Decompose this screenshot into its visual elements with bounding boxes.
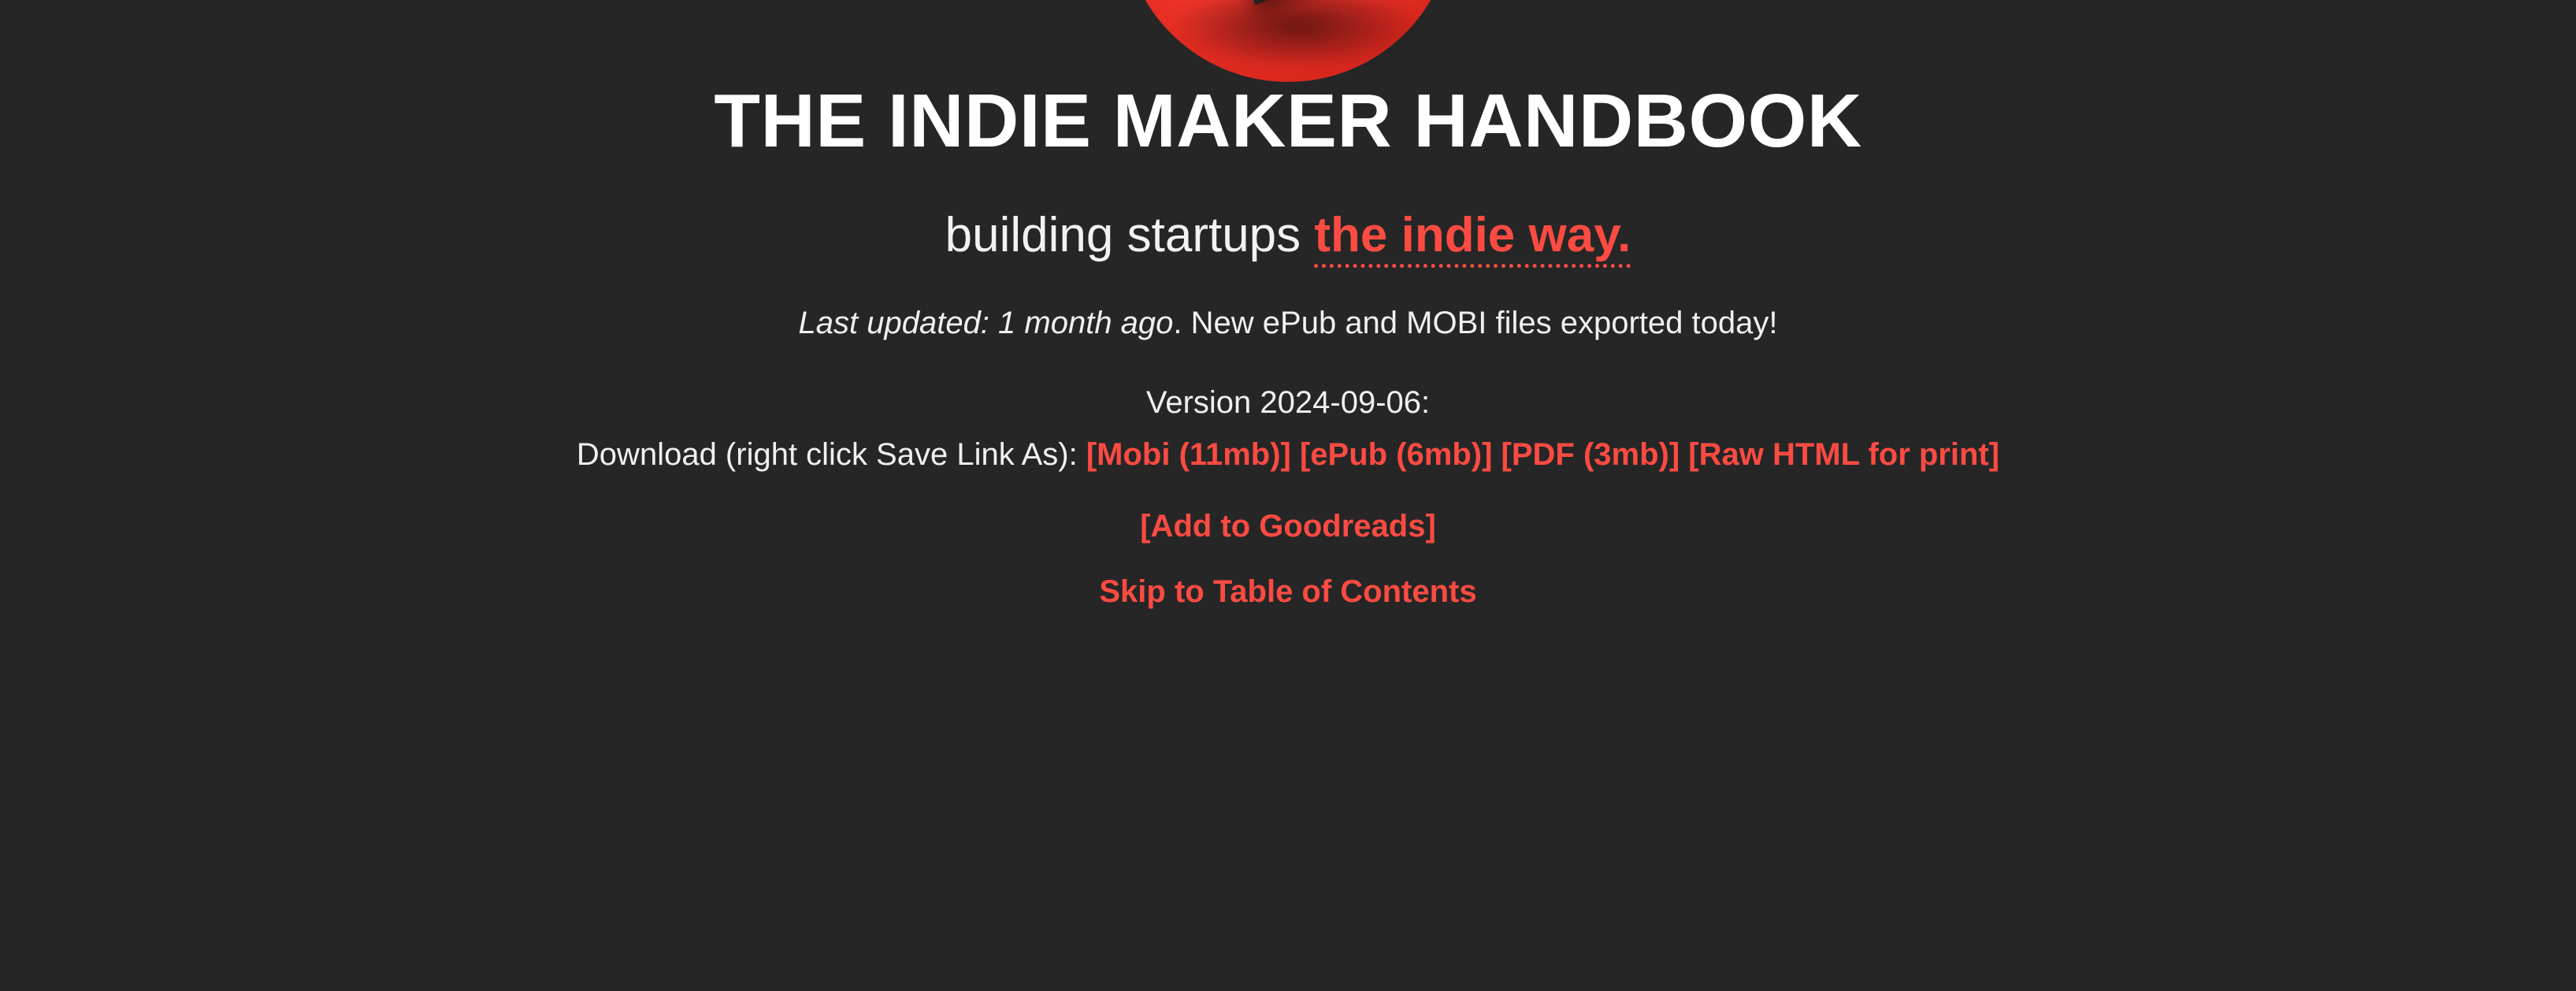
goodreads-line: [Add to Goodreads] xyxy=(1140,481,1436,544)
download-pdf-link[interactable]: [PDF (3mb)] xyxy=(1501,437,1680,472)
last-updated-italic: Last updated: 1 month ago xyxy=(799,306,1174,340)
page-title: THE INDIE MAKER HANDBOOK xyxy=(714,0,1861,161)
page-root: THE INDIE MAKER + foreword by Pieter Lev… xyxy=(0,0,2576,991)
download-epub-link[interactable]: [ePub (6mb)] xyxy=(1300,437,1492,472)
skip-to-table-of-contents-link[interactable]: Skip to Table of Contents xyxy=(1099,574,1476,609)
skip-to-toc-line: Skip to Table of Contents xyxy=(1099,544,1476,610)
last-updated-note: Last updated: 1 month ago. New ePub and … xyxy=(799,263,1778,342)
the-indie-way-link[interactable]: the indie way. xyxy=(1314,208,1631,268)
version-label: Version 2024-09-06: xyxy=(1146,385,1430,420)
subtitle-plain-text: building startups xyxy=(945,208,1315,262)
page-subtitle: building startups the indie way. xyxy=(945,161,1631,263)
download-prefix-label: Download (right click Save Link As): xyxy=(577,437,1086,472)
download-mobi-link[interactable]: [Mobi (11mb)] xyxy=(1086,437,1291,472)
last-updated-rest: . New ePub and MOBI files exported today… xyxy=(1173,306,1777,340)
version-and-downloads: Version 2024-09-06: Download (right clic… xyxy=(577,342,1999,481)
download-raw-html-link[interactable]: [Raw HTML for print] xyxy=(1688,437,1999,472)
add-to-goodreads-link[interactable]: [Add to Goodreads] xyxy=(1140,509,1436,544)
